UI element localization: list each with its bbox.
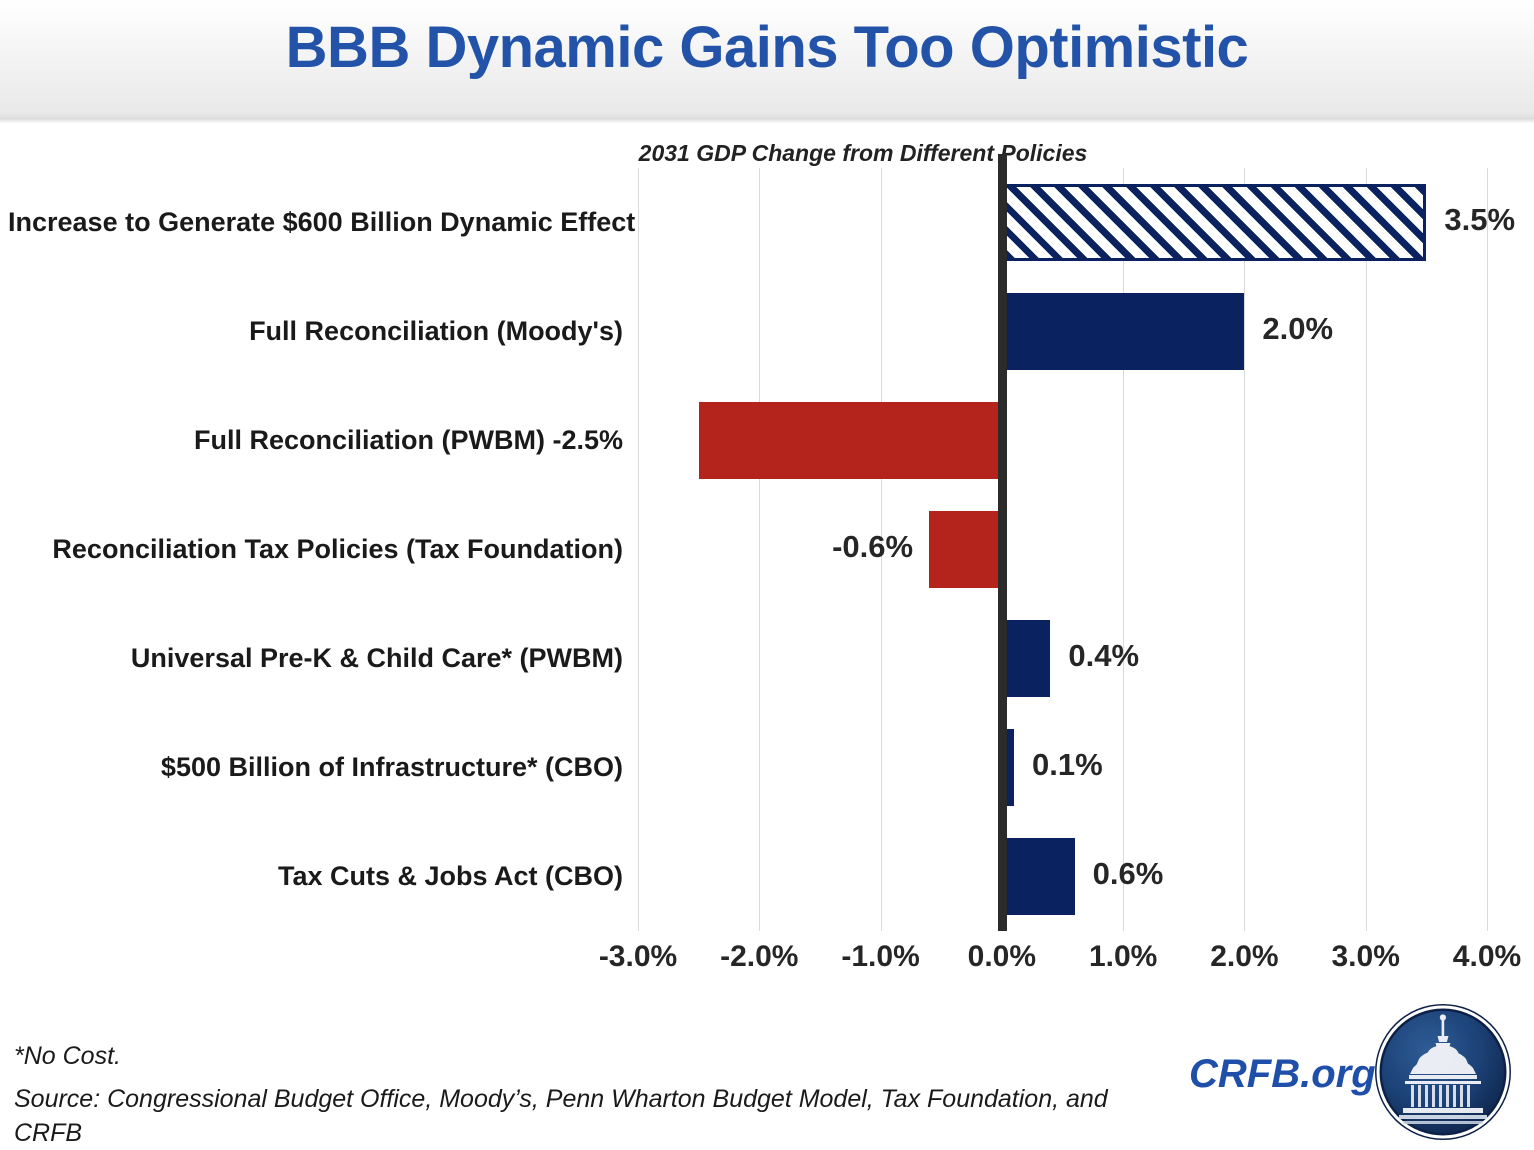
slide-canvas: BBB Dynamic Gains Too Optimistic 2031 GD… <box>0 0 1534 1150</box>
category-label-5: Universal Pre-K & Child Care* (PWBM) <box>8 641 623 675</box>
category-label-7: Tax Cuts & Jobs Act (CBO) <box>8 859 623 893</box>
xtick-2.0%: 2.0% <box>1174 940 1314 974</box>
data-label-2: 2.0% <box>1262 311 1333 347</box>
xtick--2.0%: -2.0% <box>689 940 829 974</box>
xtick-0.0%: 0.0% <box>932 940 1072 974</box>
data-label-5: 0.4% <box>1068 638 1139 674</box>
category-label-4: Reconciliation Tax Policies (Tax Foundat… <box>8 532 623 566</box>
data-label-4: -0.6% <box>638 529 913 565</box>
data-label-1: 3.5% <box>1444 202 1515 238</box>
bar-5[interactable] <box>1002 620 1051 697</box>
bar-4[interactable] <box>929 511 1002 588</box>
footnote-no-cost: *No Cost. <box>14 1042 121 1071</box>
category-label-2: Full Reconciliation (Moody's) <box>8 314 623 348</box>
chart-row: 3.5% <box>638 168 1487 277</box>
crfb-logo[interactable]: CRFB.org <box>1185 998 1525 1146</box>
xtick--1.0%: -1.0% <box>811 940 951 974</box>
bar-1[interactable] <box>1002 184 1427 261</box>
page-title: BBB Dynamic Gains Too Optimistic <box>0 14 1534 81</box>
category-label-6: $500 Billion of Infrastructure* (CBO) <box>8 750 623 784</box>
title-band-divider <box>0 118 1534 123</box>
xtick--3.0%: -3.0% <box>568 940 708 974</box>
crfb-logo-text: CRFB.org <box>1189 1052 1376 1097</box>
chart-row: 2.0% <box>638 277 1487 386</box>
category-label-1: Increase to Generate $600 Billion Dynami… <box>8 205 623 239</box>
bar-7[interactable] <box>1002 838 1075 915</box>
footnote-source-line1: Source: Congressional Budget Office, Moo… <box>14 1085 1108 1147</box>
chart-row: -0.6% <box>638 495 1487 604</box>
bar-3[interactable] <box>699 402 1002 479</box>
category-label-3: Full Reconciliation (PWBM) -2.5% <box>8 423 623 457</box>
xtick-4.0%: 4.0% <box>1417 940 1534 974</box>
chart-row: 0.6% <box>638 822 1487 931</box>
bar-2[interactable] <box>1002 293 1245 370</box>
footnote-source: Source: Congressional Budget Office, Moo… <box>14 1082 1134 1150</box>
chart-row: 0.1% <box>638 713 1487 822</box>
chart-plot-area: 3.5%2.0%-0.6%0.4%0.1%0.6% <box>638 168 1487 931</box>
chart-row: 0.4% <box>638 604 1487 713</box>
gridline <box>1487 168 1488 931</box>
chart-row <box>638 386 1487 495</box>
zero-axis-line <box>998 154 1007 931</box>
capitol-dome-icon <box>1373 1002 1513 1142</box>
xtick-3.0%: 3.0% <box>1296 940 1436 974</box>
xtick-1.0%: 1.0% <box>1053 940 1193 974</box>
data-label-7: 0.6% <box>1093 856 1164 892</box>
data-label-6: 0.1% <box>1032 747 1103 783</box>
chart-subtitle: 2031 GDP Change from Different Policies <box>638 140 1088 167</box>
